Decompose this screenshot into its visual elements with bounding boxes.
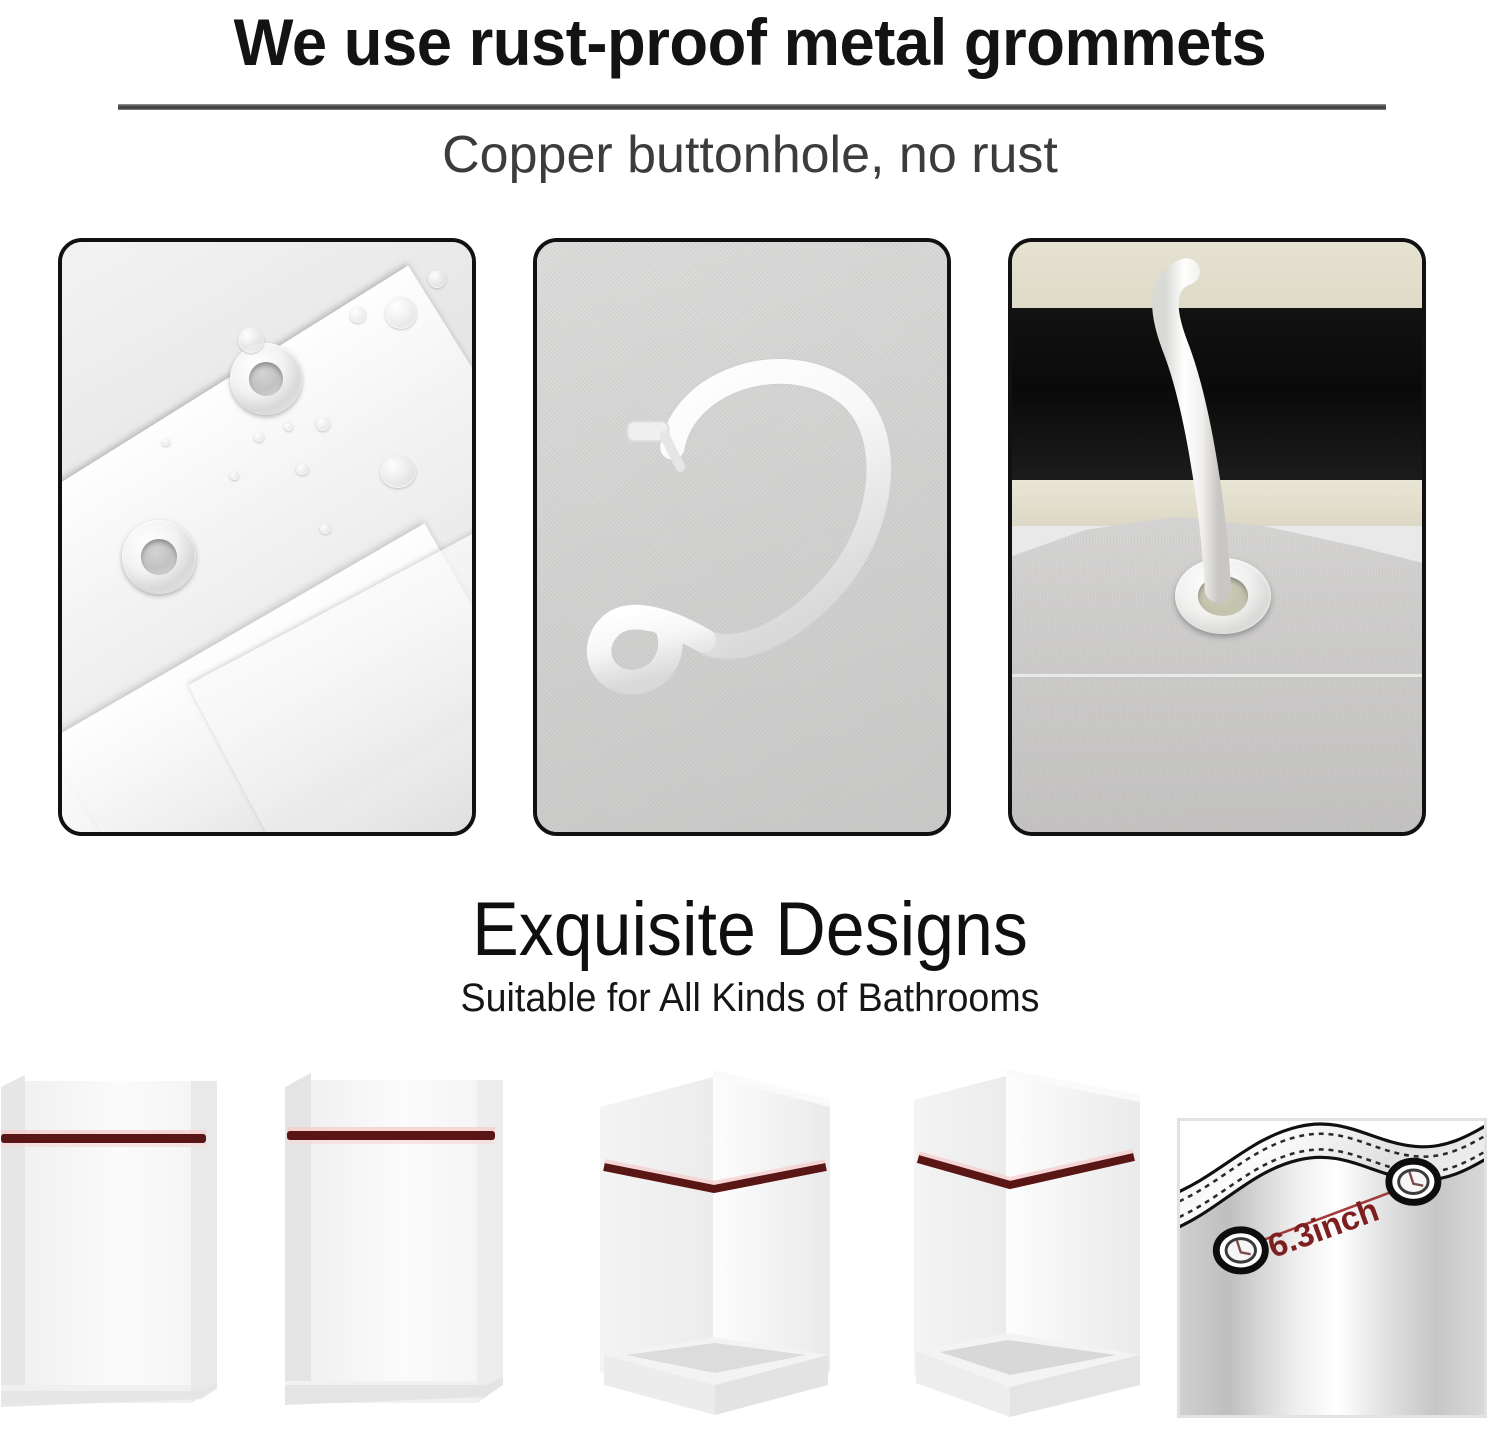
water-droplet-icon [316,417,330,431]
photo-panel-row [58,238,1426,836]
page-headline: We use rust-proof metal grommets [30,2,1470,82]
water-droplet-icon [380,456,416,488]
water-droplet-icon [320,524,331,534]
hook-on-rod-photo [1008,238,1426,836]
water-droplet-icon [385,297,417,329]
water-droplet-icon [238,327,264,353]
designs-section-title: Exquisite Designs [60,884,1440,976]
water-droplet-icon [296,464,309,475]
water-droplet-icon [254,432,264,442]
grommet-icon [1389,1161,1438,1202]
water-droplet-icon [428,270,446,288]
plastic-hook-illustration [537,242,947,832]
grommet-spacing-measurement-panel: 6.3inch [1177,1118,1487,1418]
stall-corner-rect [900,1055,1150,1434]
designs-section-subtitle: Suitable for All Kinds of Bathrooms [45,972,1455,1024]
header-divider [118,104,1386,110]
stall-straight-narrow [0,1055,225,1434]
grommet-icon [1216,1230,1265,1271]
straight-rod [1,1130,206,1147]
straight-rod [287,1127,495,1144]
plastic-hook-photo [533,238,951,836]
water-droplet-icon [162,438,170,446]
hook-on-rod-illustration [1012,242,1422,832]
stall-corner-square [590,1055,840,1434]
water-droplet-icon [230,472,239,480]
water-droplet-icon [284,422,293,431]
shower-hook-icon [1012,242,1422,832]
grommet-icon [122,520,196,594]
grommet-waterproof-fabric-photo [58,238,476,836]
measurement-illustration: 6.3inch [1180,1121,1484,1415]
fabric-grommet-illustration [62,242,472,832]
shower-hook-icon [537,242,947,832]
water-droplet-icon [350,307,366,323]
page-subheadline: Copper buttonhole, no rust [0,122,1500,188]
stall-straight-wide [277,1055,507,1434]
grommet-icon [230,343,302,415]
